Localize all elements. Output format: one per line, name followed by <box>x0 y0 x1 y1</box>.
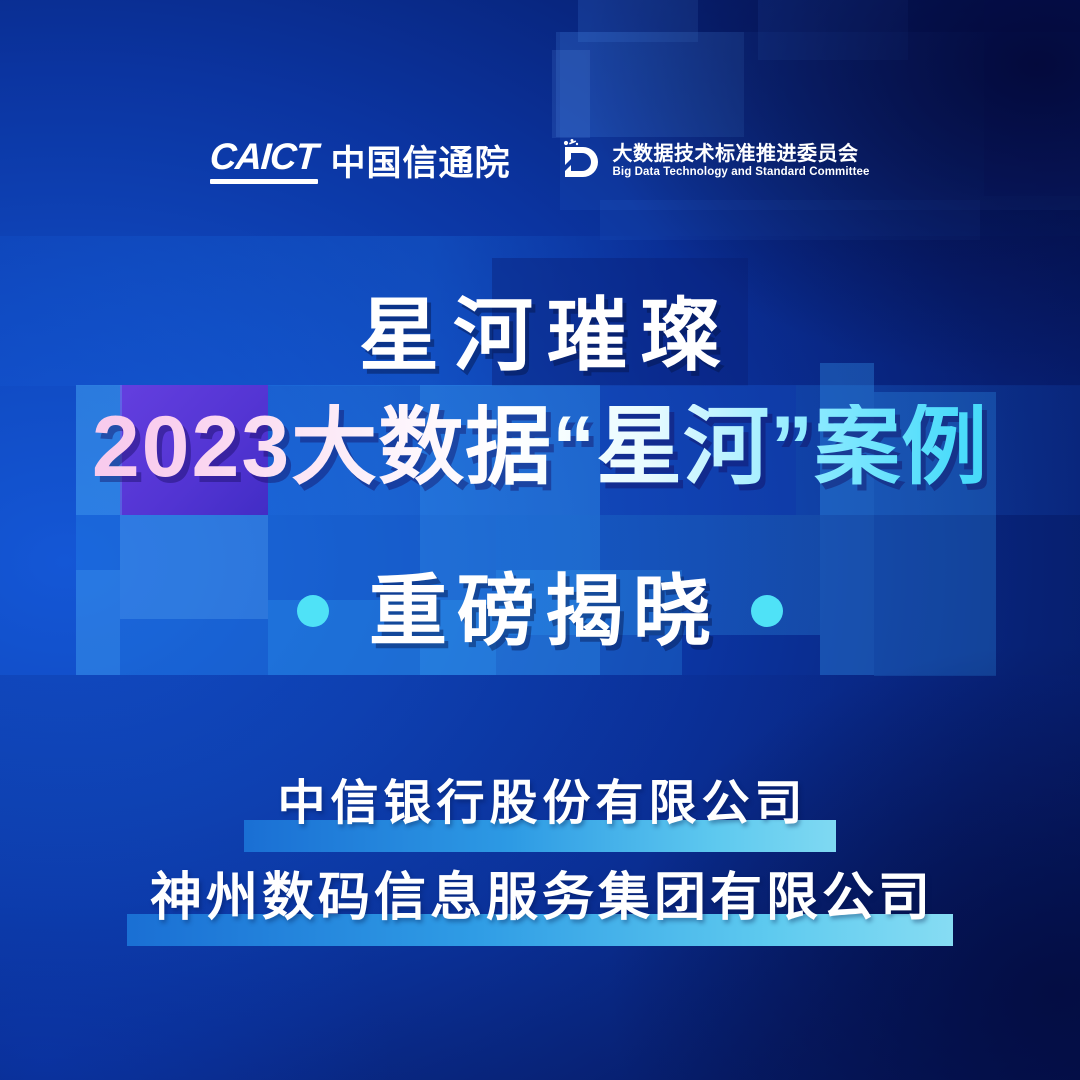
company-row-1: 中信银行股份有限公司 <box>0 780 1080 828</box>
company-name-1: 中信银行股份有限公司 <box>0 780 1080 828</box>
bdtc-name-en: Big Data Technology and Standard Committ… <box>613 167 870 179</box>
title-line-3-row: 重磅揭晓 <box>0 572 1080 650</box>
title-line-2: 2023大数据“星河”案例 <box>0 404 1080 490</box>
poster-canvas: CAICT 中国信通院 大数据技术标准推 <box>0 0 1080 1080</box>
caict-name-cn: 中国信通院 <box>331 146 511 184</box>
title-line-2-rest: 大数据“星河”案例 <box>291 399 988 495</box>
caict-underline-rule <box>210 179 317 184</box>
caict-wordmark: CAICT <box>209 138 319 175</box>
title-line-1: 星河璀璨 <box>0 296 1080 376</box>
cyan-dot-right-icon <box>751 595 783 627</box>
bdtc-text-block: 大数据技术标准推进委员会 Big Data Technology and Sta… <box>613 144 870 179</box>
bdtc-d-icon <box>557 137 601 185</box>
header-logos: CAICT 中国信通院 大数据技术标准推 <box>0 137 1080 185</box>
title-year: 2023 <box>92 399 291 495</box>
caict-mark-wrap: CAICT <box>210 138 317 184</box>
bdtc-name-cn: 大数据技术标准推进委员会 <box>613 144 870 164</box>
poster-content: CAICT 中国信通院 大数据技术标准推 <box>0 0 1080 1080</box>
title-line-3: 重磅揭晓 <box>359 572 721 650</box>
company-row-2: 神州数码信息服务集团有限公司 <box>0 872 1080 924</box>
cyan-dot-left-icon <box>297 595 329 627</box>
company-name-2: 神州数码信息服务集团有限公司 <box>0 872 1080 924</box>
bdtc-logo: 大数据技术标准推进委员会 Big Data Technology and Sta… <box>557 137 870 185</box>
caict-logo: CAICT 中国信通院 <box>210 138 510 184</box>
